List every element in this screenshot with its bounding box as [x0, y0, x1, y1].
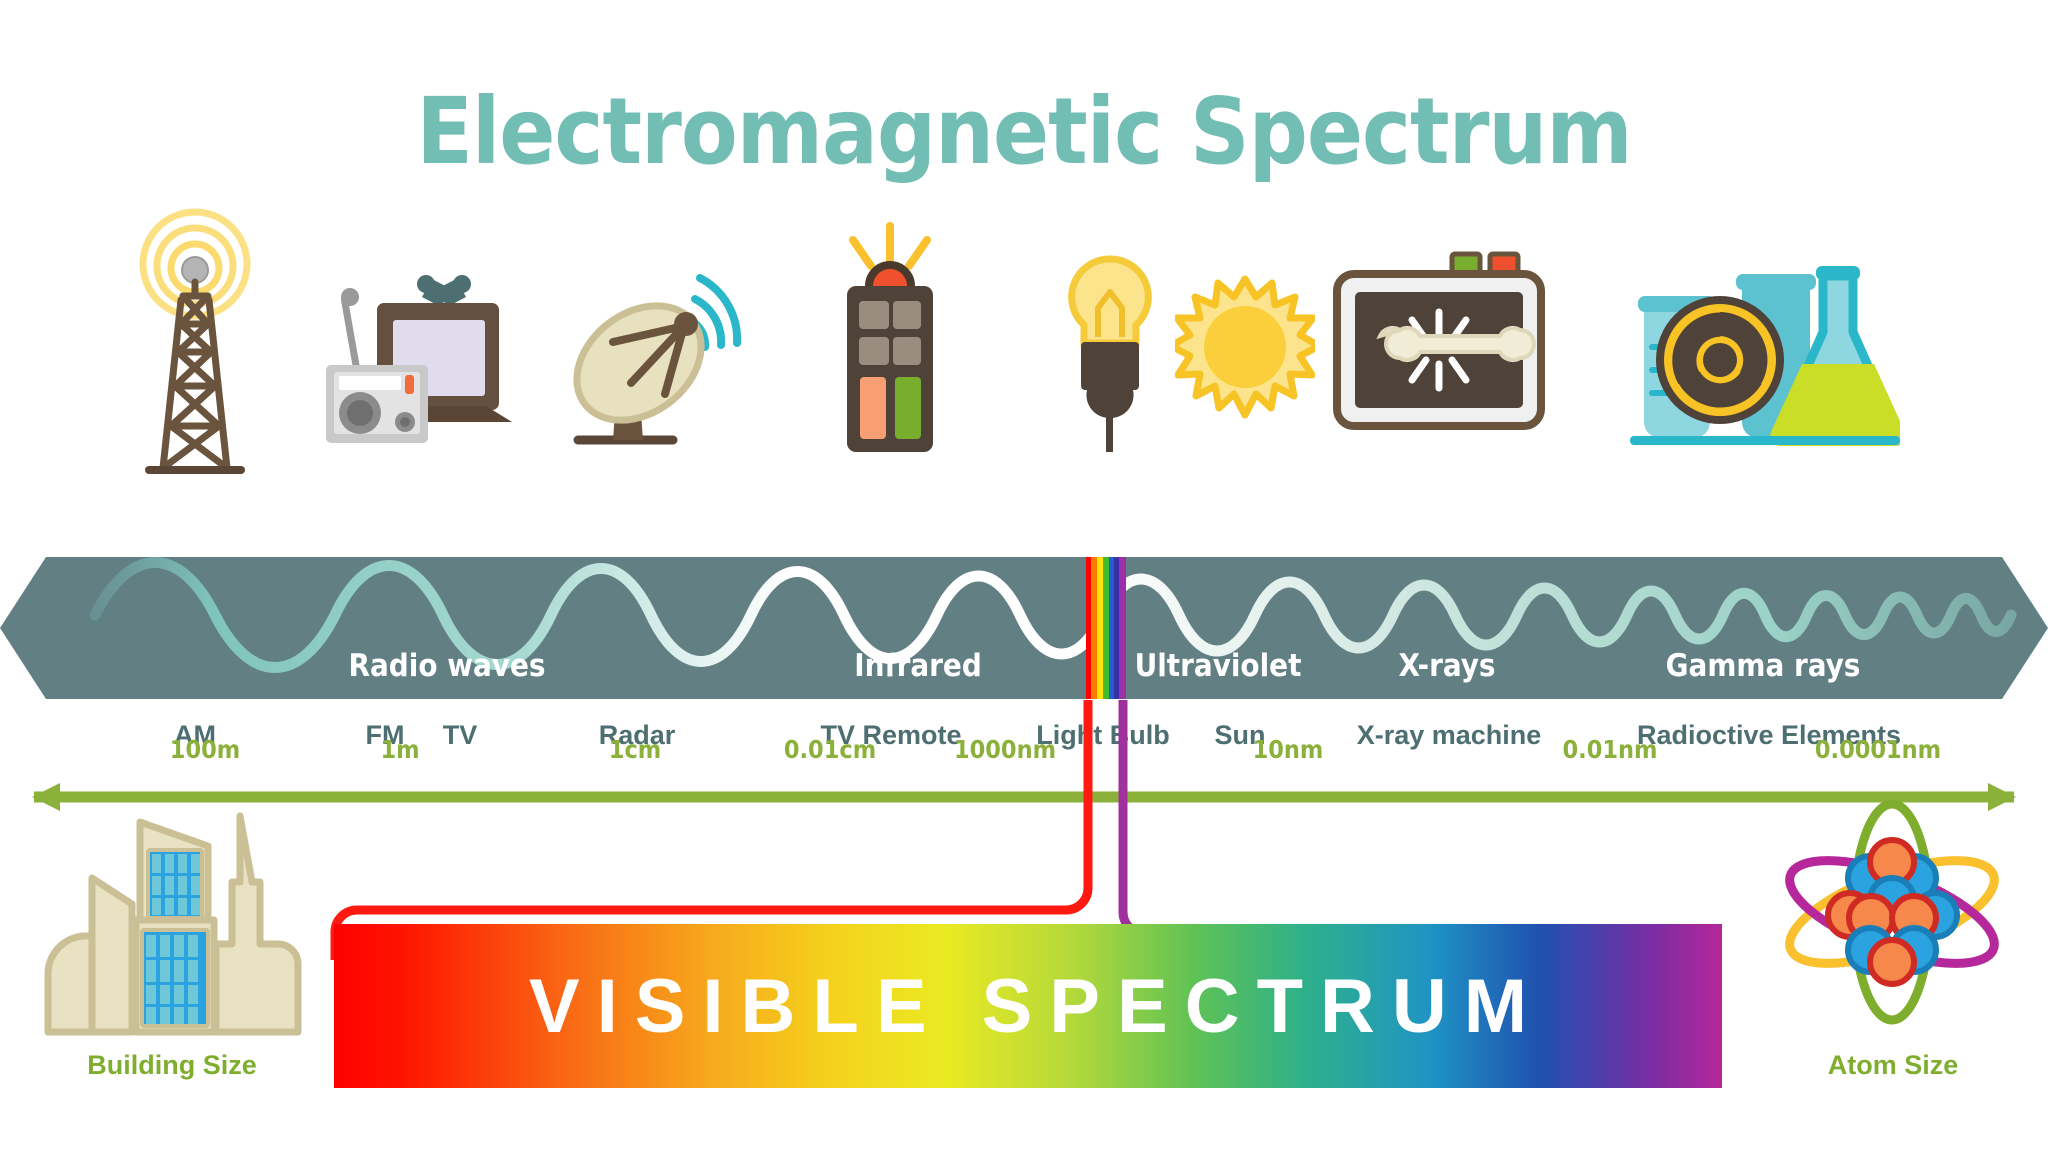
infographic-root: Electromagnetic Spectrum — [0, 0, 2048, 1168]
icon-slot-atom — [1780, 800, 2010, 1040]
icon-slot-fm-tv — [320, 200, 550, 500]
satellite-dish-icon — [555, 200, 755, 500]
band-label-ultraviolet: Ultraviolet — [1135, 648, 1302, 684]
source-icon-row: AM FM TV Radar TV Remote Light Bulb Sun … — [0, 200, 2048, 500]
icon-slot-tv-remote — [825, 200, 955, 500]
page-title: Electromagnetic Spectrum — [0, 78, 2048, 185]
city-buildings-icon — [40, 812, 305, 1037]
icon-slot-xray — [1330, 200, 1550, 500]
band-label-gamma-rays: Gamma rays — [1666, 648, 1861, 684]
sun-icon — [1175, 200, 1315, 500]
building-size-label: Building Size — [87, 1050, 257, 1081]
spectrum-band: Radio waves Infrared Ultraviolet X-rays … — [0, 553, 2048, 703]
icon-slot-building — [40, 812, 305, 1042]
atom-size-label: Atom Size — [1828, 1050, 1959, 1081]
visible-spectrum-label: VISIBLE SPECTRUM — [334, 924, 1722, 1088]
icon-slot-light-bulb — [1060, 200, 1160, 500]
visible-light-stripe — [1086, 553, 1126, 703]
icon-slot-radar — [555, 200, 755, 500]
icon-slot-sun — [1175, 200, 1315, 500]
visible-spectrum-connectors — [0, 700, 2048, 960]
band-label-radio-waves: Radio waves — [349, 648, 546, 684]
tv-remote-icon — [825, 200, 955, 500]
light-bulb-icon — [1060, 200, 1160, 500]
visible-spectrum-bar: VISIBLE SPECTRUM — [334, 924, 1722, 1088]
xray-machine-icon — [1330, 200, 1550, 500]
radio-tower-icon — [115, 200, 275, 500]
icon-slot-am — [115, 200, 275, 500]
radioactive-elements-icon — [1630, 200, 1900, 500]
icon-slot-radioactive — [1630, 200, 1900, 500]
atom-icon — [1780, 800, 2010, 1035]
band-label-xrays: X-rays — [1399, 648, 1496, 684]
band-label-infrared: Infrared — [854, 648, 982, 684]
